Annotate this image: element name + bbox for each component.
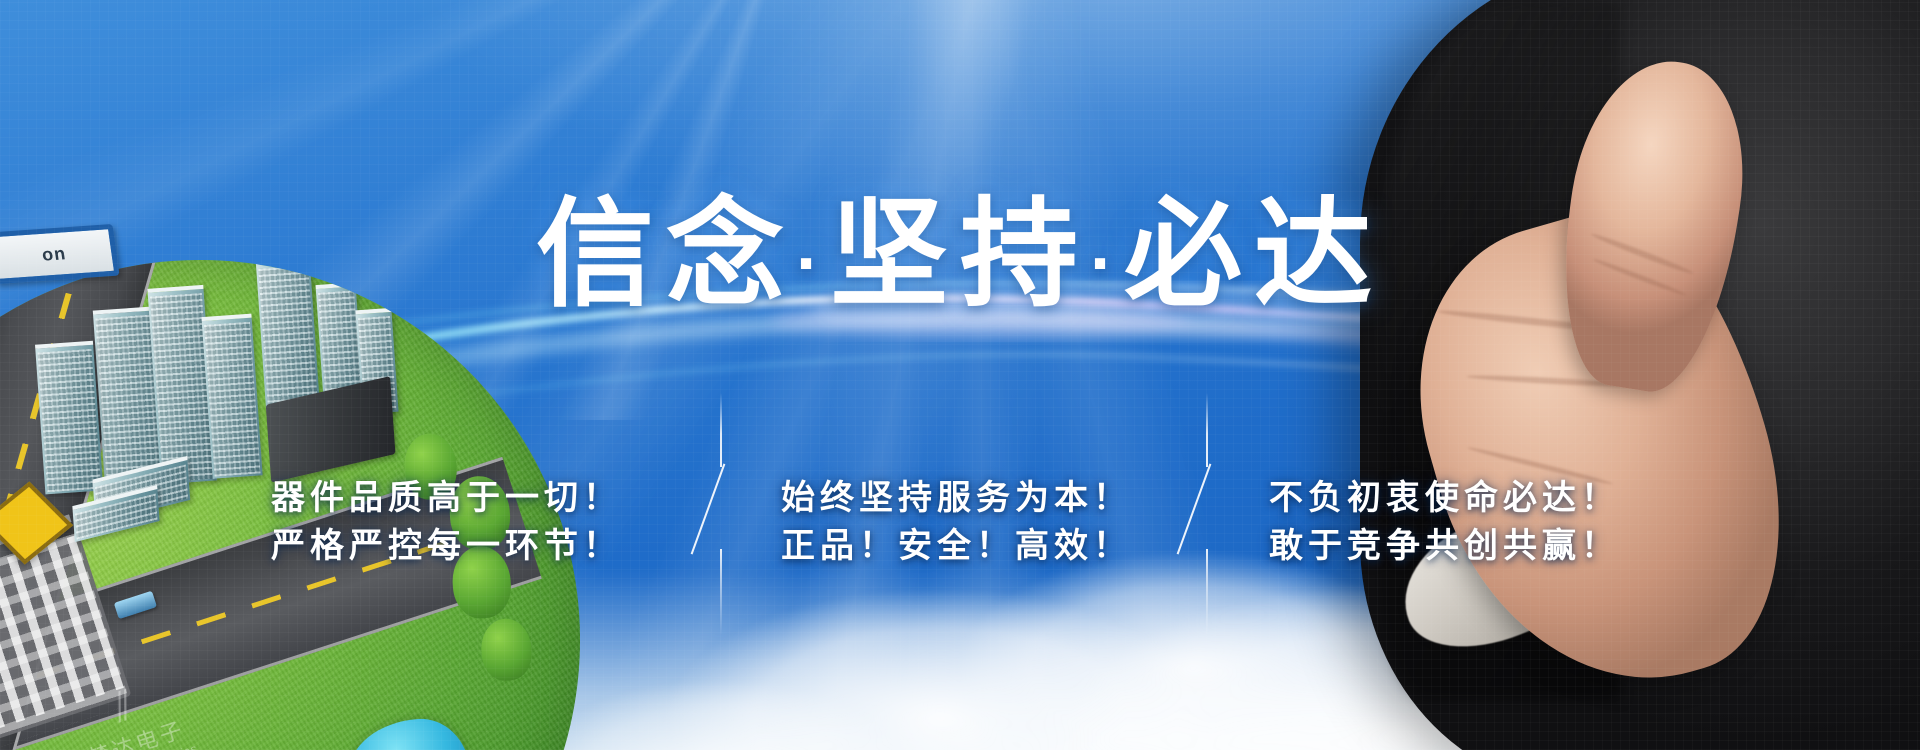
slogan-mission-line1: 不负初衷使命必达！ (1269, 474, 1661, 522)
headline-separator-2: · (1090, 224, 1124, 304)
divider-slash (691, 464, 726, 555)
slogan-quality: 器件品质高于一切！ 严格严控每一环节！ (259, 474, 689, 570)
slogan-quality-line2: 严格严控每一环节！ (271, 522, 689, 570)
headline-part-1: 信念 (536, 189, 796, 321)
divider-line-bottom (1206, 549, 1208, 635)
slogan-mission-line2: 敢于竞争共创共赢！ (1269, 522, 1661, 570)
divider-line-bottom (720, 549, 722, 635)
slogan-service-line1: 始终坚持服务为本！ (781, 474, 1175, 522)
slogan-row: 器件品质高于一切！ 严格严控每一环节！ 始终坚持服务为本！ 正品！安全！高效！ … (0, 452, 1920, 592)
divider-line-top (720, 393, 722, 467)
divider-slash (1177, 464, 1212, 555)
slogan-mission: 不负初衷使命必达！ 敢于竞争共创共赢！ (1241, 474, 1661, 570)
headline-part-2: 坚持 (830, 189, 1090, 321)
slogan-service: 始终坚持服务为本！ 正品！安全！高效！ (755, 474, 1175, 570)
headline-separator-1: · (796, 224, 830, 304)
handshake-hand (1372, 32, 1802, 722)
slogan-service-line2: 正品！安全！高效！ (781, 522, 1175, 570)
headline-part-3: 必达 (1124, 189, 1384, 321)
slogan-divider-2 (1175, 437, 1241, 607)
divider-line-top (1206, 393, 1208, 467)
slogan-quality-line1: 器件品质高于一切！ (271, 474, 689, 522)
marketing-banner: ⫽ 梵达电子 Fanda Electronics on 信念·坚持·必达 器件品… (0, 0, 1920, 750)
slogan-divider-1 (689, 437, 755, 607)
page-title: 信念·坚持·必达 (0, 196, 1920, 323)
